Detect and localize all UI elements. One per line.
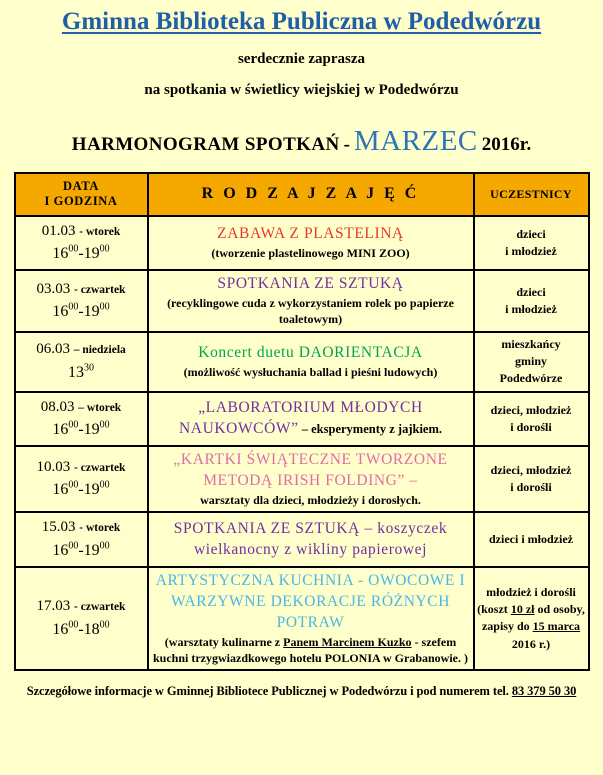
- activity-description: (recyklingowe cuda z wykorzystaniem role…: [151, 295, 471, 327]
- cell-date-time: 10.03 - czwartek1600-1900: [15, 446, 148, 512]
- event-time: 1600-1900: [18, 478, 145, 502]
- participants-text: mieszkańcygminyPodedwórze: [477, 336, 586, 388]
- column-header-date-line1: DATA: [18, 179, 145, 195]
- participants-text: dziecii młodzież: [477, 226, 586, 261]
- table-row: 15.03 - wtorek1600-1900SPOTKANIA ZE SZTU…: [15, 512, 589, 567]
- cell-participants: dzieci i młodzież: [474, 512, 589, 567]
- event-date: 08.03 – wtorek: [18, 396, 145, 419]
- cell-participants: dziecii młodzież: [474, 216, 589, 271]
- table-row: 17.03 - czwartek1600-1800ARTYSTYCZNA KUC…: [15, 567, 589, 670]
- table-row: 10.03 - czwartek1600-1900„KARTKI ŚWIĄTEC…: [15, 446, 589, 512]
- event-time: 1600-1900: [18, 539, 145, 563]
- activity-description: (możliwość wysłuchania ballad i pieśni l…: [151, 364, 471, 380]
- event-date: 10.03 - czwartek: [18, 456, 145, 479]
- table-row: 01.03 - wtorek1600-1900ZABAWA Z PLASTELI…: [15, 216, 589, 271]
- event-date: 17.03 - czwartek: [18, 595, 145, 618]
- event-date: 03.03 - czwartek: [18, 278, 145, 301]
- activity-title: „LABORATORIUM MŁODYCH NAUKOWCÓW” – ekspe…: [151, 398, 471, 440]
- invite-line-2: na spotkania w świetlicy wiejskiej w Pod…: [0, 82, 603, 99]
- organization-title: Gminna Biblioteka Publiczna w Podedwórzu: [0, 0, 603, 36]
- participants-text: dzieci, młodzieżi dorośli: [477, 402, 586, 437]
- participants-text: dziecii młodzież: [477, 284, 586, 319]
- activity-title: ZABAWA Z PLASTELINĄ: [151, 224, 471, 245]
- event-time: 1600-1900: [18, 300, 145, 324]
- schedule-heading: HARMONOGRAM SPOTKAŃ - MARZEC 2016r.: [0, 125, 603, 158]
- poster-page: Gminna Biblioteka Publiczna w Podedwórzu…: [0, 0, 603, 775]
- participants-text: dzieci i młodzież: [477, 531, 586, 548]
- cell-date-time: 06.03 – niedziela1330: [15, 332, 148, 392]
- table-row: 08.03 – wtorek1600-1900„LABORATORIUM MŁO…: [15, 392, 589, 447]
- cell-activity: ARTYSTYCZNA KUCHNIA - OWOCOWE I WARZYWNE…: [148, 567, 474, 670]
- schedule-year: 2016r.: [482, 134, 531, 155]
- schedule-table-body: 01.03 - wtorek1600-1900ZABAWA Z PLASTELI…: [15, 216, 589, 670]
- activity-title: Koncert duetu DAORIENTACJA: [151, 343, 471, 364]
- cell-activity: „LABORATORIUM MŁODYCH NAUKOWCÓW” – ekspe…: [148, 392, 474, 447]
- column-header-date-line2: I GODZINA: [18, 194, 145, 210]
- activity-title: ARTYSTYCZNA KUCHNIA - OWOCOWE I WARZYWNE…: [151, 571, 471, 634]
- cell-activity: SPOTKANIA ZE SZTUKĄ – koszyczek wielkano…: [148, 512, 474, 567]
- cell-activity: ZABAWA Z PLASTELINĄ(tworzenie plastelino…: [148, 216, 474, 271]
- footer-text: Szczegółowe informacje w Gminnej Bibliot…: [27, 684, 512, 698]
- cell-date-time: 08.03 – wtorek1600-1900: [15, 392, 148, 447]
- event-date: 15.03 - wtorek: [18, 516, 145, 539]
- activity-description: warsztaty dla dzieci, młodzieży i dorosł…: [151, 492, 471, 508]
- event-time: 1600-1900: [18, 418, 145, 442]
- cell-date-time: 15.03 - wtorek1600-1900: [15, 512, 148, 567]
- column-header-participants: UCZESTNICY: [474, 173, 589, 216]
- cell-participants: dzieci, młodzieżi dorośli: [474, 446, 589, 512]
- participants-text: dzieci, młodzieżi dorośli: [477, 462, 586, 497]
- participants-text: młodzież i dorośli(koszt 10 zł od osoby,…: [477, 584, 586, 654]
- activity-title: SPOTKANIA ZE SZTUKĄ – koszyczek wielkano…: [151, 519, 471, 561]
- cell-date-time: 03.03 - czwartek1600-1900: [15, 270, 148, 331]
- footer-phone: 83 379 50 30: [512, 684, 576, 698]
- schedule-label: HARMONOGRAM SPOTKAŃ: [72, 134, 340, 155]
- participants-deadline: 15 marca: [533, 619, 580, 633]
- event-time: 1600-1800: [18, 618, 145, 642]
- cell-date-time: 17.03 - czwartek1600-1800: [15, 567, 148, 670]
- activity-description: (warsztaty kulinarne z Panem Marcinem Ku…: [151, 634, 471, 666]
- activity-title-suffix: – eksperymenty z jajkiem.: [299, 422, 442, 436]
- table-row: 03.03 - czwartek1600-1900SPOTKANIA ZE SZ…: [15, 270, 589, 331]
- column-header-date: DATA I GODZINA: [15, 173, 148, 216]
- schedule-dash: -: [344, 134, 350, 155]
- schedule-month: MARZEC: [354, 125, 478, 157]
- schedule-table: DATA I GODZINA R O D Z A J Z A J Ę Ć UCZ…: [14, 172, 590, 671]
- cell-participants: mieszkańcygminyPodedwórze: [474, 332, 589, 392]
- cell-participants: dziecii młodzież: [474, 270, 589, 331]
- participants-cost: 10 zł: [511, 602, 535, 616]
- event-date: 06.03 – niedziela: [18, 338, 145, 361]
- table-row: 06.03 – niedziela1330Koncert duetu DAORI…: [15, 332, 589, 392]
- cell-activity: „KARTKI ŚWIĄTECZNE TWORZONE METODĄ IRISH…: [148, 446, 474, 512]
- activity-title: SPOTKANIA ZE SZTUKĄ: [151, 274, 471, 295]
- invite-line-1: serdecznie zaprasza: [0, 51, 603, 68]
- column-header-kind: R O D Z A J Z A J Ę Ć: [148, 173, 474, 216]
- cell-participants: młodzież i dorośli(koszt 10 zł od osoby,…: [474, 567, 589, 670]
- cell-date-time: 01.03 - wtorek1600-1900: [15, 216, 148, 271]
- activity-description: (tworzenie plastelinowego MINI ZOO): [151, 245, 471, 261]
- cell-activity: SPOTKANIA ZE SZTUKĄ(recyklingowe cuda z …: [148, 270, 474, 331]
- cell-activity: Koncert duetu DAORIENTACJA(możliwość wys…: [148, 332, 474, 392]
- cell-participants: dzieci, młodzieżi dorośli: [474, 392, 589, 447]
- table-header-row: DATA I GODZINA R O D Z A J Z A J Ę Ć UCZ…: [15, 173, 589, 216]
- event-time: 1600-1900: [18, 242, 145, 266]
- activity-chef-name: Panem Marcinem Kuzko: [283, 635, 411, 649]
- footer-contact: Szczegółowe informacje w Gminnej Bibliot…: [0, 684, 603, 699]
- event-date: 01.03 - wtorek: [18, 220, 145, 243]
- activity-title: „KARTKI ŚWIĄTECZNE TWORZONE METODĄ IRISH…: [151, 450, 471, 492]
- event-time: 1330: [18, 361, 145, 385]
